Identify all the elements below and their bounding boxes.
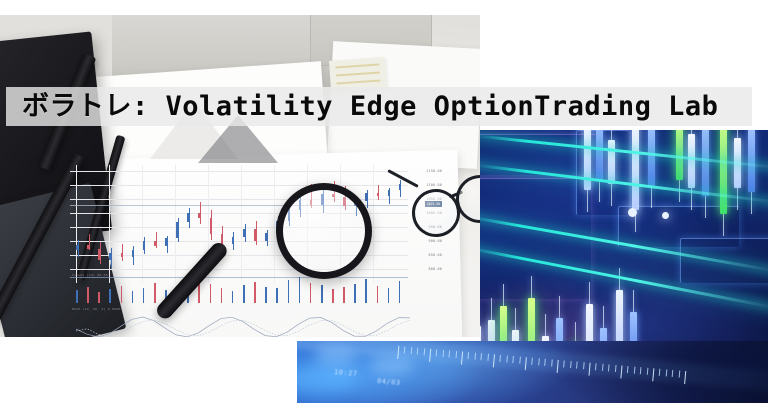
timeline-tick (487, 354, 489, 361)
chart-subpanel-label: Volume (14) 00.00 (72, 273, 108, 277)
chart-candle-body (98, 249, 100, 260)
timeline-tick (417, 348, 419, 355)
chart-volume-bar (254, 282, 256, 303)
timeline-tick (652, 368, 654, 381)
timeline-tick (410, 347, 412, 354)
chart-candle-body (132, 250, 134, 257)
timeline-tick (455, 351, 457, 358)
timeline-tick (532, 358, 534, 365)
chart-volume-bar (288, 280, 290, 303)
neon-candle (702, 130, 709, 196)
chart-volume-bar (109, 289, 111, 303)
printed-candlestick-chart: 1150.001100.001050.001000.00950.00900.00… (70, 165, 442, 337)
timeline-tick (423, 348, 425, 355)
timeline-tick (429, 349, 431, 362)
timeline-tick (588, 363, 590, 376)
eyeglasses (412, 163, 480, 243)
magnifying-glass (276, 183, 372, 279)
timeline-tick (615, 365, 617, 372)
chart-candle-body (87, 245, 89, 249)
neon-candle (608, 140, 615, 184)
timeline-tick (634, 367, 636, 374)
timeline-tick (449, 350, 451, 357)
chart-candle-body (377, 193, 379, 196)
neon-candle (648, 130, 655, 186)
chart-candle-body (243, 229, 245, 237)
chart-gridline-v (274, 165, 275, 283)
chart-gridline-v (109, 165, 110, 283)
chart-candle-body (399, 184, 401, 191)
chart-volume-bar (143, 288, 145, 303)
chart-candle-body (154, 241, 156, 246)
timeline-tick (640, 367, 642, 374)
timeline-tick (678, 371, 680, 378)
timeline-tick (583, 362, 585, 369)
magnifier-lens (276, 183, 372, 279)
timeline-tick (620, 365, 622, 378)
chart-gridline-v (76, 165, 77, 283)
timeline-tick (666, 369, 668, 376)
timeline-tick (493, 354, 495, 367)
timeline-tick (627, 366, 629, 373)
chart-volume-bar (276, 288, 278, 303)
chart-volume-bar (98, 292, 100, 303)
chart-volume-bar (232, 291, 234, 303)
chart-volume-bar (299, 277, 301, 303)
timeline-tick (544, 359, 546, 366)
chart-candle-body (388, 190, 390, 195)
timeline-tick (595, 363, 597, 370)
timeline-tick (538, 358, 540, 365)
chart-volume-bar (354, 284, 356, 303)
chart-volume-bar (132, 291, 134, 303)
chart-gridline-v (241, 165, 242, 283)
title-banner: ボラトレ: Volatility Edge OptionTrading Lab (6, 87, 752, 126)
chart-candle-body (254, 229, 256, 241)
chart-candle-body (210, 218, 212, 234)
timeline-tick (519, 357, 521, 364)
chart-volume-bar (321, 285, 323, 303)
chart-volume-bar (388, 288, 390, 303)
chart-volume-bar (399, 281, 401, 303)
timeline-tick (576, 362, 578, 369)
chart-candle-body (176, 222, 178, 238)
timeline-tick (672, 370, 674, 377)
chart-volume-bar (76, 290, 78, 303)
chart-candle-body (265, 233, 267, 241)
neon-glow-dot-1 (628, 208, 637, 217)
chart-volume-bar (154, 283, 156, 303)
chart-candle-body (165, 238, 167, 246)
chart-volume-bar (377, 286, 379, 303)
chart-volume-bar (210, 284, 212, 303)
chart-gridline (70, 171, 408, 172)
chart-candle-body (232, 237, 234, 244)
timeline-tick (557, 360, 559, 373)
blue-timeline-photo: 10:27 04/03 (297, 341, 768, 403)
neon-glow-dot-2 (662, 212, 669, 219)
timeline-tick (512, 356, 514, 363)
chart-volume-bar (310, 283, 312, 304)
chart-volume-bar (365, 279, 367, 303)
chart-gridline-v (373, 165, 374, 283)
desk-analytics-photo: 1150.001100.001050.001000.00950.00900.00… (0, 15, 480, 337)
chart-macd-curve (76, 311, 410, 337)
timeline-tick (646, 368, 648, 375)
timeline-tick (397, 346, 399, 359)
timeline-tick (608, 364, 610, 371)
timeline-tick (442, 350, 444, 357)
chart-volume-bar (343, 287, 345, 303)
timeline-tick (481, 353, 483, 360)
timeline-tick (404, 347, 406, 354)
timeline-tick (684, 371, 686, 384)
chart-volume-bar (265, 287, 267, 303)
timeline-tick (500, 355, 502, 362)
chart-volume-bar (221, 288, 223, 303)
timeline-tick (461, 352, 463, 365)
timeline-tick (506, 355, 508, 362)
timeline-tick (474, 353, 476, 360)
timeline-tick (564, 360, 566, 367)
chart-candle-body (121, 253, 123, 257)
chart-volume-bar (121, 286, 123, 303)
chart-volume-bar (87, 287, 89, 303)
chart-volume-bar (332, 289, 334, 303)
timeline-tick (436, 349, 438, 356)
neon-candle (688, 134, 695, 188)
neon-candle (632, 130, 639, 210)
timeline-tick (468, 352, 470, 359)
chart-gridline-v (142, 165, 143, 283)
timeline-tick (659, 369, 661, 376)
neon-candle (720, 130, 727, 214)
neon-candle (748, 130, 755, 192)
image-canvas: 1150.001100.001050.001000.00950.00900.00… (0, 0, 768, 403)
chart-candle-body (187, 213, 189, 222)
neon-candle (596, 130, 603, 180)
chart-candle-body (198, 213, 200, 218)
chart-axis-label: 800.00 (429, 267, 442, 271)
chart-candle-body (76, 245, 78, 250)
chart-axis-label: 850.00 (429, 253, 442, 257)
page-title: ボラトレ: Volatility Edge OptionTrading Lab (6, 87, 718, 126)
timeline-tick (602, 364, 604, 371)
chart-candle-body (143, 241, 145, 250)
neon-candle (584, 130, 591, 190)
chart-candle-body (109, 253, 111, 260)
timeline-tick (551, 359, 553, 366)
chart-volume-bar (243, 285, 245, 303)
neon-step-line-violet-2 (480, 178, 591, 299)
timeline-tick (525, 357, 527, 370)
timeline-tick (570, 361, 572, 368)
